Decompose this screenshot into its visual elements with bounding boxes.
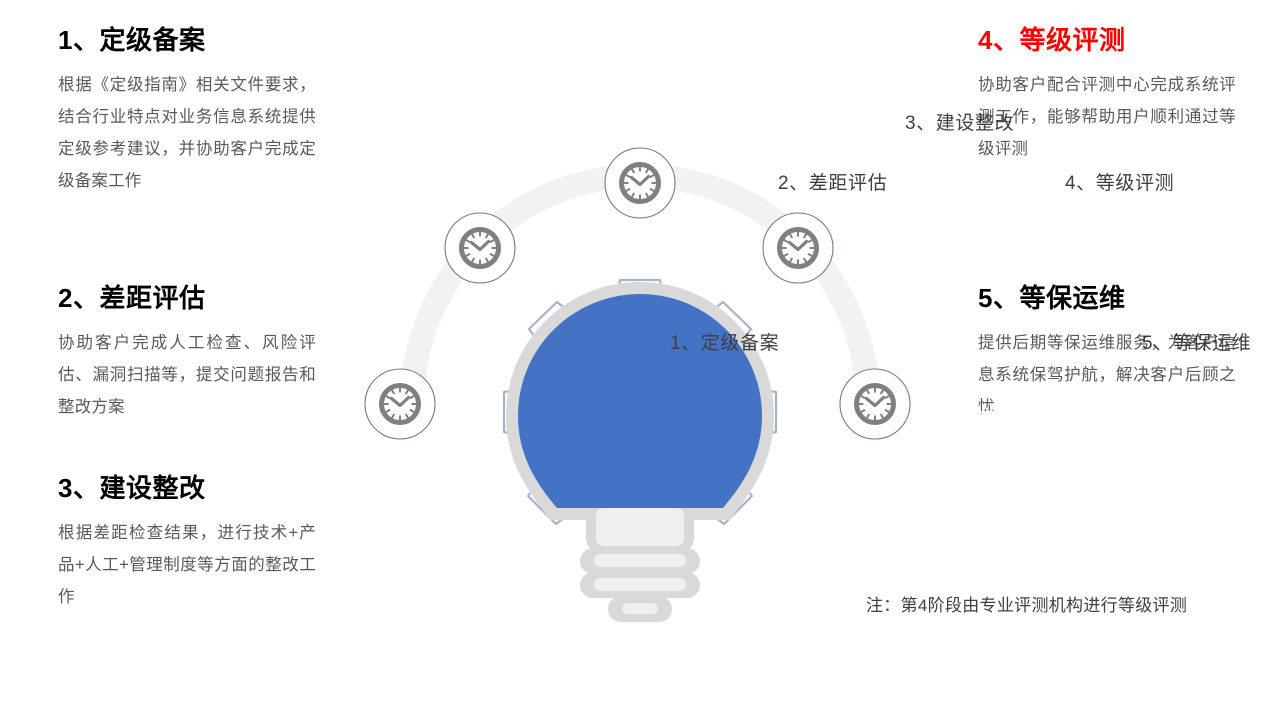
node-circle-3 bbox=[605, 148, 675, 218]
node-label-1: 1、定级备案 bbox=[670, 328, 779, 355]
info-block-1-body: 根据《定级指南》相关文件要求，结合行业特点对业务信息系统提供定级参考建议，并协助… bbox=[58, 69, 316, 198]
info-block-4-title: 4、等级评测 bbox=[978, 26, 1236, 55]
node-circle-1 bbox=[365, 369, 435, 439]
info-block-3-body: 根据差距检查结果，进行技术+产品+人工+管理制度等方面的整改工作 bbox=[58, 517, 316, 614]
node-label-5: 5、等保运维 bbox=[1142, 328, 1251, 355]
node-circle-2 bbox=[445, 213, 515, 283]
process-diagram: 1、定级备案 2、差距评估 3、建设整改 4、等级评测 5、等保运维 建设流程 bbox=[330, 0, 950, 720]
info-block-3-title: 3、建设整改 bbox=[58, 474, 316, 503]
info-block-3: 3、建设整改 根据差距检查结果，进行技术+产品+人工+管理制度等方面的整改工作 bbox=[58, 474, 316, 613]
node-circle-4 bbox=[763, 213, 833, 283]
info-block-2: 2、差距评估 协助客户完成人工检查、风险评估、漏洞扫描等，提交问题报告和整改方案 bbox=[58, 284, 316, 423]
info-block-4: 4、等级评测 协助客户配合评测中心完成系统评测工作，能够帮助用户顺利通过等级评测 bbox=[978, 26, 1236, 165]
info-block-2-title: 2、差距评估 bbox=[58, 284, 316, 313]
node-label-3: 3、建设整改 bbox=[905, 108, 1014, 135]
process-diagram-svg bbox=[330, 0, 950, 720]
info-block-1-title: 1、定级备案 bbox=[58, 26, 316, 55]
info-block-1: 1、定级备案 根据《定级指南》相关文件要求，结合行业特点对业务信息系统提供定级参… bbox=[58, 26, 316, 197]
footnote: 注：第4阶段由专业评测机构进行等级评测 bbox=[866, 591, 1187, 616]
info-block-2-body: 协助客户完成人工检查、风险评估、漏洞扫描等，提交问题报告和整改方案 bbox=[58, 327, 316, 424]
node-circle-5 bbox=[840, 369, 910, 439]
node-label-4: 4、等级评测 bbox=[1065, 168, 1174, 195]
node-label-2: 2、差距评估 bbox=[778, 168, 887, 195]
info-block-5-title: 5、等保运维 bbox=[978, 284, 1236, 313]
info-block-4-body: 协助客户配合评测中心完成系统评测工作，能够帮助用户顺利通过等级评测 bbox=[978, 69, 1236, 166]
